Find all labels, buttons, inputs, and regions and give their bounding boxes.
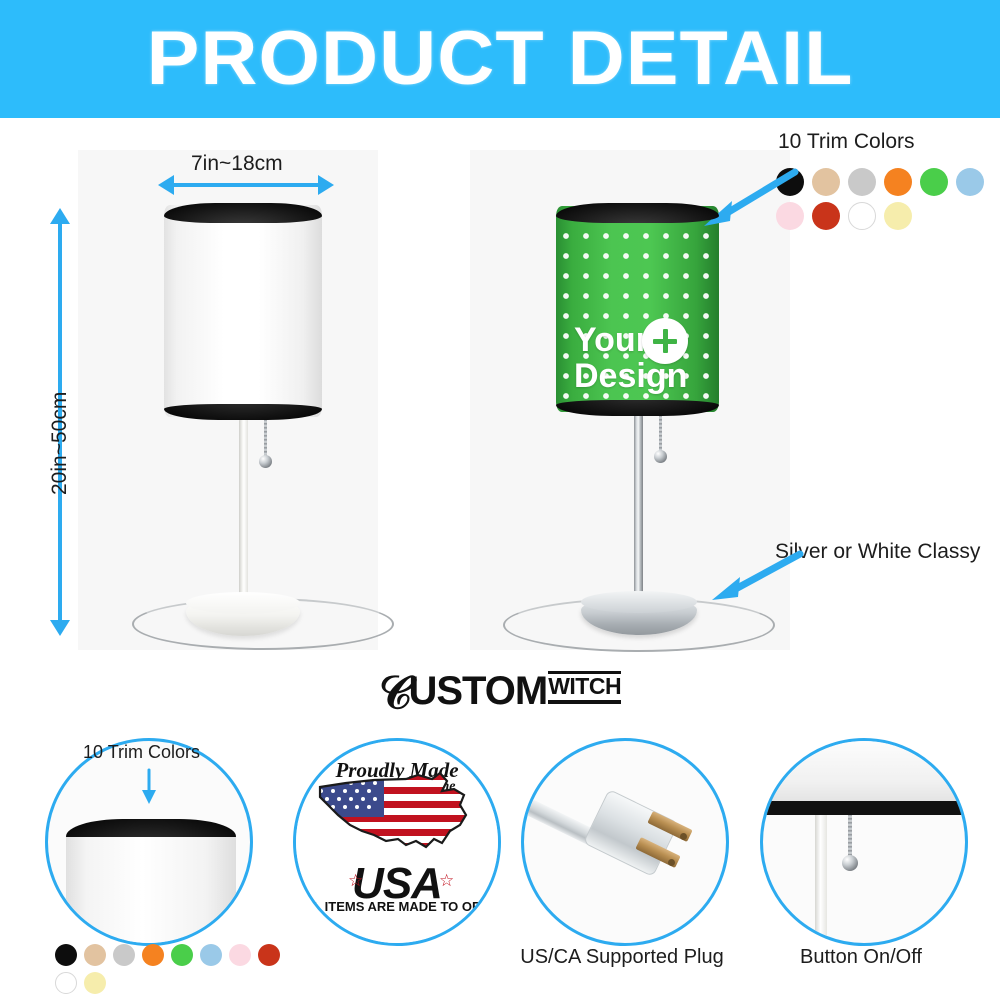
brand-logo: 𝒞USTOMWITCH: [0, 666, 1000, 721]
lampshade-white: [164, 205, 322, 417]
trim-swatch-black[interactable]: [55, 944, 77, 966]
base-finish-callout-arrow: [700, 548, 810, 606]
lampshade-top-trim-green: [556, 203, 719, 223]
c-monogram-icon: 𝒞: [379, 666, 409, 721]
lamp-pole-silver: [634, 415, 643, 607]
height-arrow-down-icon: [50, 620, 70, 636]
trim-colors-swatches-top: [776, 168, 1000, 236]
lamp-pole-zoom: [815, 815, 827, 945]
lampshade-surface: [164, 205, 322, 417]
usa-flag-map-icon: [314, 769, 480, 859]
width-arrow-right-icon: [318, 175, 334, 195]
height-arrow-up-icon: [50, 208, 70, 224]
feature-circle-made-in-usa: Proudly Made in the: [293, 738, 501, 946]
plug-prong-hole-upper: [680, 833, 687, 840]
arrow-down-left-icon-2: [700, 548, 810, 606]
trim-swatch-green[interactable]: [171, 944, 193, 966]
trim-swatch-orange[interactable]: [142, 944, 164, 966]
arrow-down-left-icon: [692, 168, 802, 232]
trim-swatch-tan[interactable]: [812, 168, 840, 196]
trim-swatch-light-blue[interactable]: [956, 168, 984, 196]
trim-swatch-light-blue[interactable]: [200, 944, 222, 966]
plug-illustration: [524, 741, 726, 943]
trim-swatch-orange[interactable]: [884, 168, 912, 196]
shade-bottom-zoom: [760, 738, 968, 803]
plus-icon: [642, 318, 688, 364]
trim-swatch-white[interactable]: [55, 972, 77, 994]
plug-body: [583, 789, 679, 877]
trim-swatch-light-gray[interactable]: [848, 168, 876, 196]
shade-trim-zoom-switch-icon: [760, 801, 968, 815]
trim-colors-inner-arrow: [139, 768, 159, 808]
pull-chain-ball-green-icon: [654, 450, 667, 463]
switch-caption: Button On/Off: [720, 946, 1000, 969]
pull-chain: [264, 420, 267, 458]
page-title: PRODUCT DETAIL: [0, 18, 1000, 100]
width-dimension-line: [172, 183, 320, 187]
trim-swatch-pink[interactable]: [229, 944, 251, 966]
lamp-base-top-white: [186, 592, 300, 614]
lamp-pole-white: [239, 419, 248, 606]
design-text-line1: Your: [556, 322, 719, 358]
switch-illustration: [763, 741, 965, 943]
pull-chain-ball-zoom-icon: [842, 855, 858, 871]
trim-swatch-tan[interactable]: [84, 944, 106, 966]
trim-swatch-green[interactable]: [920, 168, 948, 196]
usa-badge-footer: ALL ITEMS ARE MADE TO ORDER!: [296, 899, 498, 914]
width-arrow-left-icon: [158, 175, 174, 195]
star-right-icon: ☆: [439, 871, 454, 891]
lampshade-bottom-trim: [164, 404, 322, 420]
pull-chain-ball-icon: [259, 455, 272, 468]
trim-colors-callout-arrow: [692, 168, 802, 232]
trim-swatch-brick-red[interactable]: [258, 944, 280, 966]
brand-name-sub: WITCH: [548, 671, 621, 704]
usa-badge: Proudly Made in the: [296, 741, 498, 943]
shade-body-zoom: [66, 837, 236, 946]
trim-colors-swatches-bottom: [55, 944, 295, 1000]
design-text-line2: Design: [556, 358, 719, 394]
trim-swatch-light-gray[interactable]: [113, 944, 135, 966]
trim-colors-label-bottom: 10 Trim Colors: [83, 742, 200, 763]
feature-circle-switch: [760, 738, 968, 946]
lampshade-green: Your Design: [556, 206, 719, 412]
star-left-icon: ☆: [348, 871, 363, 891]
trim-swatch-brick-red[interactable]: [812, 202, 840, 230]
pull-chain-zoom: [848, 815, 852, 859]
plug-prong-hole-lower: [668, 859, 675, 866]
trim-swatch-cream[interactable]: [84, 972, 106, 994]
feature-circle-plug: [521, 738, 729, 946]
header-banner: PRODUCT DETAIL: [0, 0, 1000, 118]
brand-name-main: USTOM: [408, 669, 547, 714]
trim-colors-label-top: 10 Trim Colors: [778, 130, 915, 154]
trim-swatch-cream[interactable]: [884, 202, 912, 230]
trim-swatch-white[interactable]: [848, 202, 876, 230]
pull-chain-green-lamp: [659, 416, 662, 453]
lampshade-bottom-trim-green: [556, 400, 719, 416]
lamp-base-top-silver: [581, 591, 697, 613]
product-detail-infographic: PRODUCT DETAIL 7in~18cm 20in~50cm Yo: [0, 0, 1000, 1000]
width-dimension-label: 7in~18cm: [191, 152, 283, 176]
lampshade-top-trim: [164, 203, 322, 223]
arrow-down-icon: [139, 768, 159, 808]
height-dimension-label: 20in~50cm: [48, 392, 72, 495]
